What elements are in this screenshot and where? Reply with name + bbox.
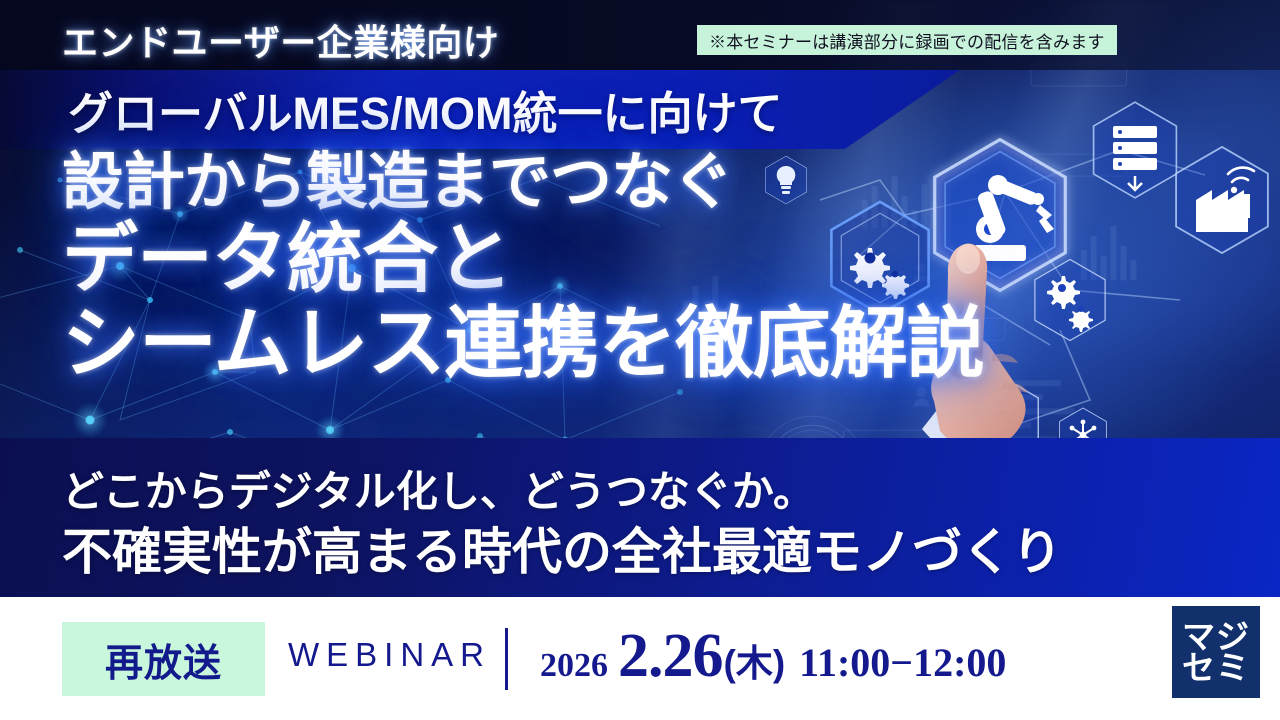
rebroadcast-badge: 再放送: [62, 622, 265, 696]
webinar-label: WEBINAR: [288, 636, 491, 674]
date-month-day: 2.26: [618, 621, 723, 692]
headline-line-3: シームレス連携を徹底解説: [62, 304, 1060, 382]
time-range: 11:00−12:00: [799, 639, 1006, 686]
webinar-banner: エンドユーザー企業様向け ※本セミナーは講演部分に録画での配信を含みます グロー…: [0, 0, 1280, 720]
kicker-text: エンドユーザー企業様向け: [62, 14, 499, 66]
tagline-line-2: 不確実性が高まる時代の全社最適モノづくり: [62, 512, 1062, 584]
headline-group: 設計から製造までつなぐ データ統合と シームレス連携を徹底解説: [0, 152, 1060, 382]
majiseminar-logo: マジ セミ: [1172, 606, 1260, 698]
rebroadcast-label: 再放送: [105, 632, 222, 687]
tagline-line-1: どこからデジタル化し、どうつなぐか。: [62, 458, 815, 519]
date-year: 2026: [540, 647, 608, 685]
date-day-of-week: (木): [724, 633, 786, 687]
footer-divider: [505, 628, 508, 690]
headline-line-2: データ統合と: [62, 222, 1060, 298]
headline-line-1: 設計から製造までつなぐ: [62, 152, 1060, 214]
date-time-group: 2026 2.26 (木) 11:00−12:00: [540, 621, 1006, 693]
logo-line-2: セミ: [1182, 652, 1250, 683]
recording-notice-badge: ※本セミナーは講演部分に録画での配信を含みます: [697, 25, 1117, 55]
sub-banner-title: グローバルMES/MOM統一に向けて: [68, 73, 968, 146]
logo-line-1: マジ: [1182, 621, 1250, 652]
